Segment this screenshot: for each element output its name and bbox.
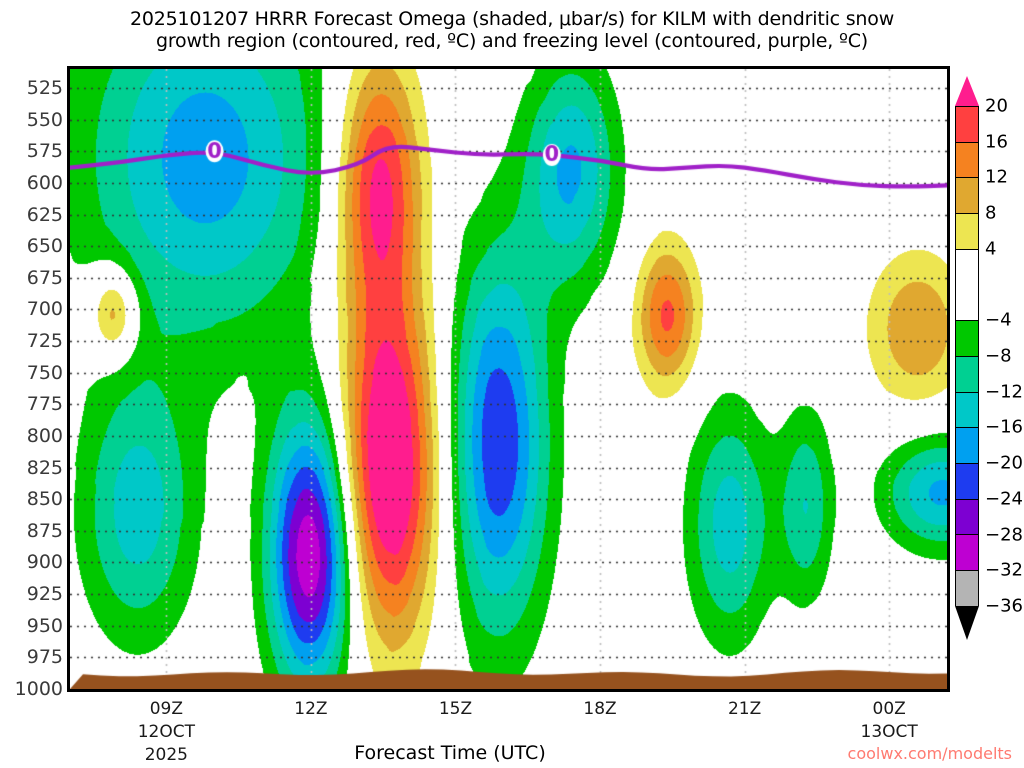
y-axis-tick-825: 825 bbox=[27, 457, 63, 479]
x-axis-tick-21Z: 21Z bbox=[728, 698, 761, 721]
y-axis-tick-925: 925 bbox=[27, 583, 63, 605]
omega-colorbar: 20161284−4−8−12−16−20−24−28−32−36 bbox=[955, 76, 979, 640]
x-axis-title: Forecast Time (UTC) bbox=[0, 742, 900, 764]
y-axis-tick-775: 775 bbox=[27, 393, 63, 415]
colorbar-label-12: 12 bbox=[985, 167, 1008, 188]
y-axis-tick-600: 600 bbox=[27, 172, 63, 194]
colorbar-label--20: −20 bbox=[985, 453, 1023, 474]
colorbar-band--20-to--24 bbox=[955, 463, 979, 499]
y-axis-tick-725: 725 bbox=[27, 330, 63, 352]
colorbar-band-16-to-12 bbox=[955, 142, 979, 178]
colorbar-band--4-to--8 bbox=[955, 320, 979, 356]
omega-shading-canvas bbox=[70, 69, 947, 689]
colorbar-label--32: −32 bbox=[985, 560, 1023, 581]
page-title: 2025101207 HRRR Forecast Omega (shaded, … bbox=[0, 8, 1024, 53]
colorbar-label-20: 20 bbox=[985, 96, 1008, 117]
colorbar-band-8-to-4 bbox=[955, 213, 979, 249]
colorbar-label-16: 16 bbox=[985, 131, 1008, 152]
colorbar-label-8: 8 bbox=[985, 203, 996, 224]
colorbar-band-12-to-8 bbox=[955, 177, 979, 213]
x-axis-tick-18Z: 18Z bbox=[583, 698, 616, 721]
colorbar-band--12-to--16 bbox=[955, 392, 979, 428]
colorbar-band--32-to--36 bbox=[955, 570, 979, 606]
colorbar-label--12: −12 bbox=[985, 381, 1023, 402]
y-axis-tick-1000: 1000 bbox=[15, 678, 63, 700]
colorbar-band--24-to--28 bbox=[955, 499, 979, 535]
colorbar-over-arrow bbox=[955, 76, 979, 106]
colorbar-label--24: −24 bbox=[985, 488, 1023, 509]
y-axis-tick-625: 625 bbox=[27, 204, 63, 226]
colorbar-band--8-to--12 bbox=[955, 356, 979, 392]
y-axis-tick-650: 650 bbox=[27, 235, 63, 257]
y-axis-tick-550: 550 bbox=[27, 109, 63, 131]
x-axis-tick-00Z: 00Z13OCT bbox=[861, 698, 918, 744]
watermark: coolwx.com/modelts bbox=[848, 744, 1012, 763]
colorbar-label--4: −4 bbox=[985, 310, 1012, 331]
colorbar-band--28-to--32 bbox=[955, 534, 979, 570]
colorbar-band--16-to--20 bbox=[955, 427, 979, 463]
y-axis-tick-575: 575 bbox=[27, 140, 63, 162]
y-axis-tick-975: 975 bbox=[27, 646, 63, 668]
title-line-1: 2025101207 HRRR Forecast Omega (shaded, … bbox=[130, 8, 894, 30]
x-axis-tick-15Z: 15Z bbox=[439, 698, 472, 721]
colorbar-label--16: −16 bbox=[985, 417, 1023, 438]
colorbar-band-4-to--4 bbox=[955, 249, 979, 320]
colorbar-label--36: −36 bbox=[985, 596, 1023, 617]
y-axis-tick-750: 750 bbox=[27, 362, 63, 384]
y-axis-tick-700: 700 bbox=[27, 298, 63, 320]
y-axis-tick-525: 525 bbox=[27, 77, 63, 99]
y-axis-tick-850: 850 bbox=[27, 488, 63, 510]
y-axis-labels: 5255505756006256506757007257507758008258… bbox=[0, 0, 67, 768]
title-line-2: growth region (contoured, red, ºC) and f… bbox=[0, 30, 1024, 52]
x-axis-tick-12Z: 12Z bbox=[294, 698, 327, 721]
colorbar-band-20-to-16 bbox=[955, 106, 979, 142]
colorbar-under-arrow bbox=[955, 606, 979, 640]
y-axis-tick-875: 875 bbox=[27, 520, 63, 542]
y-axis-tick-800: 800 bbox=[27, 425, 63, 447]
colorbar-label-4: 4 bbox=[985, 238, 996, 259]
omega-timeheight-plot bbox=[67, 66, 950, 692]
colorbar-label--28: −28 bbox=[985, 524, 1023, 545]
y-axis-tick-900: 900 bbox=[27, 551, 63, 573]
colorbar-label--8: −8 bbox=[985, 346, 1012, 367]
y-axis-tick-950: 950 bbox=[27, 615, 63, 637]
y-axis-tick-675: 675 bbox=[27, 267, 63, 289]
